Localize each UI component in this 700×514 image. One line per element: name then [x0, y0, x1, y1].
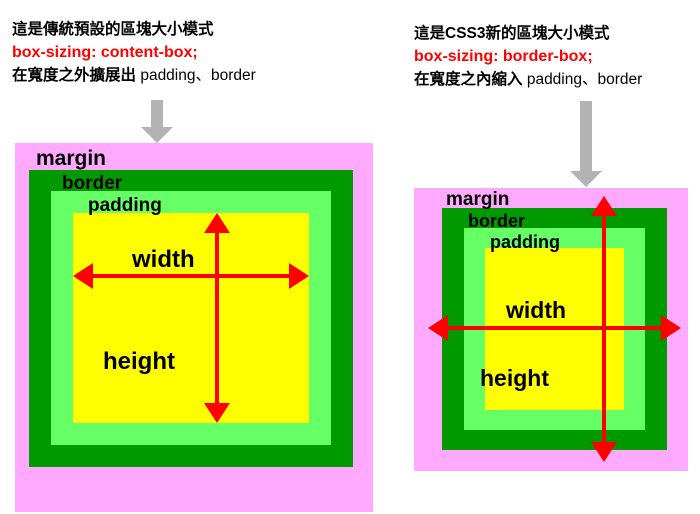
left-margin-label: margin [36, 148, 106, 169]
left-caption-line1: 這是傳統預設的區塊大小模式 [12, 18, 256, 41]
arrow-head [570, 171, 602, 187]
right-flow-down-arrow-icon [570, 101, 602, 188]
height-line [215, 223, 219, 413]
right-border-label: border [468, 212, 525, 230]
height-arrowhead-up-icon [591, 196, 617, 216]
right-height-measure [591, 196, 617, 462]
width-line [83, 274, 299, 278]
border-box-diagram: margin border padding width height [414, 188, 688, 471]
left-caption-line3-bold: 在寬度之外擴展出 [12, 67, 136, 84]
left-caption-block: 這是傳統預設的區塊大小模式 box-sizing: content-box; 在… [12, 18, 256, 87]
width-arrowhead-right-icon [289, 263, 309, 289]
left-caption-line3-thin: padding、border [136, 67, 256, 84]
left-flow-down-arrow-icon [141, 100, 173, 143]
height-arrowhead-up-icon [204, 213, 230, 233]
right-caption-line3-bold: 在寬度之內縮入 [414, 71, 523, 88]
arrow-head [141, 127, 173, 143]
right-margin-label: margin [446, 190, 509, 209]
height-arrowhead-down-icon [591, 442, 617, 462]
left-padding-label: padding [88, 196, 162, 215]
width-arrowhead-right-icon [661, 315, 681, 341]
right-caption-line1: 這是CSS3新的區塊大小模式 [414, 22, 642, 45]
left-height-measure [204, 213, 230, 423]
arrow-shaft [151, 100, 163, 130]
right-width-label: width [506, 299, 566, 322]
content-box-diagram: margin border padding width height [15, 143, 373, 512]
height-line [602, 206, 606, 452]
left-caption-code: box-sizing: content-box; [12, 41, 256, 64]
left-width-label: width [132, 248, 195, 272]
left-border-label: border [62, 174, 122, 193]
arrow-shaft [580, 101, 592, 174]
width-arrowhead-left-icon [428, 315, 448, 341]
width-line [438, 326, 671, 330]
right-caption-line3-thin: padding、border [523, 71, 643, 88]
diagram-canvas: 這是傳統預設的區塊大小模式 box-sizing: content-box; 在… [0, 0, 700, 514]
width-arrowhead-left-icon [73, 263, 93, 289]
height-arrowhead-down-icon [204, 403, 230, 423]
right-caption-line3: 在寬度之內縮入 padding、border [414, 68, 642, 91]
left-caption-line3: 在寬度之外擴展出 padding、border [12, 64, 256, 87]
left-content-layer [73, 213, 309, 423]
right-height-label: height [480, 367, 549, 390]
right-caption-block: 這是CSS3新的區塊大小模式 box-sizing: border-box; 在… [414, 22, 642, 91]
left-height-label: height [103, 350, 175, 374]
right-padding-label: padding [490, 233, 560, 251]
right-caption-code: box-sizing: border-box; [414, 45, 642, 68]
